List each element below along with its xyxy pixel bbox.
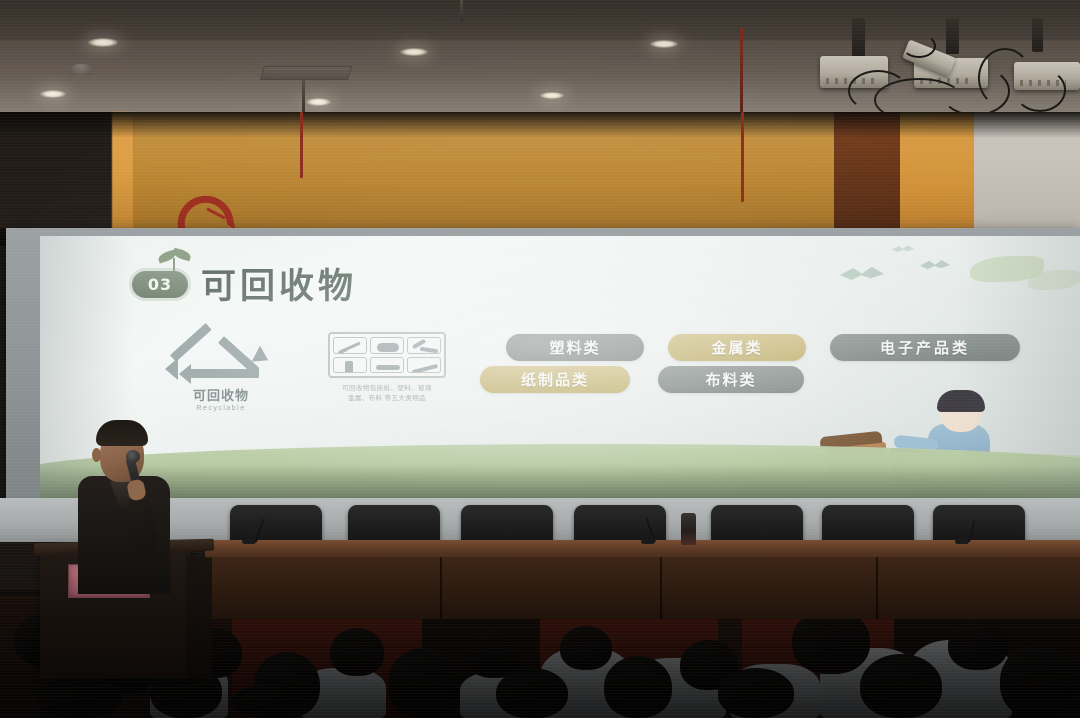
recessed-downlight [40, 90, 66, 98]
recessed-downlight [306, 98, 331, 106]
grid-cell-electronics-icon [407, 357, 441, 374]
rig-mount [852, 18, 865, 58]
recycle-arrow-head-bottom [179, 364, 191, 384]
audience-head [330, 628, 384, 676]
ceiling-rod [460, 0, 463, 22]
recessed-downlight [400, 48, 428, 56]
sprout-icon [158, 250, 192, 272]
stage-table-front [205, 557, 1080, 619]
audience-head [718, 668, 794, 718]
bird-decoration-icon [840, 264, 884, 284]
stage-table-seam [876, 557, 878, 619]
audience-head [388, 648, 458, 718]
recycle-label-cn: 可回收物 [158, 385, 284, 404]
recycle-label-en: Recyclable [158, 405, 284, 412]
ceiling-vent [260, 66, 352, 80]
category-pill-electronics: 电子产品类 [830, 334, 1020, 361]
rig-mount [1032, 18, 1043, 52]
mic-base [641, 539, 655, 544]
section-badge-wrap: 03 [132, 268, 188, 300]
recessed-downlight [88, 38, 118, 47]
section-number-badge: 03 [132, 271, 188, 298]
hanging-wire [300, 112, 303, 178]
wall-top-shadow [0, 112, 1080, 138]
grid-caption-line1: 可回收物包括纸、塑料、玻璃 [322, 384, 452, 394]
speaker-presenter [70, 420, 190, 600]
recycle-arm-top-left [170, 323, 212, 362]
slide-title: 可回收物 [201, 258, 357, 309]
rig-cable [902, 34, 936, 58]
speaker-ear [92, 448, 101, 462]
grid-cell-metal-icon [333, 357, 367, 374]
slide-heading: 03 可回收物 [132, 258, 357, 309]
ceiling [0, 0, 1080, 118]
audience-head [1000, 644, 1074, 718]
ceiling-rod [302, 78, 305, 112]
audience-head [604, 656, 672, 718]
category-pill-metal: 金属类 [668, 334, 806, 361]
category-pill-plastic: 塑料类 [506, 334, 644, 361]
projection-screen: 03 可回收物 可回收物 Recyclable [40, 236, 1080, 498]
rig-cable [1014, 68, 1066, 112]
grid-cell-glass-icon [407, 337, 441, 354]
bird-decoration-icon [920, 258, 950, 272]
leaf-decoration-icon [1028, 270, 1080, 290]
desk-microphone [960, 520, 976, 544]
recessed-downlight [540, 92, 564, 99]
figure-hair [937, 390, 985, 412]
bird-decoration-icon [892, 244, 914, 254]
recyclable-items-grid-block: 可回收物包括纸、塑料、玻璃 金属、布料 等五大类物品 [322, 332, 452, 405]
stage-table-seam [440, 557, 442, 619]
ceiling-rod [740, 28, 743, 112]
recycle-arrow-head-left [165, 358, 178, 380]
audience-head [232, 684, 312, 718]
recycle-symbol-block: 可回收物 Recyclable [158, 328, 284, 412]
auditorium-photo: 03 可回收物 可回收物 Recyclable [0, 0, 1080, 718]
category-pill-fabric: 布料类 [658, 366, 804, 393]
audience-head [36, 676, 122, 718]
stage-light-rig [818, 18, 1080, 118]
grid-cell-fabric-icon [370, 357, 404, 374]
mic-base [955, 539, 969, 544]
mic-base [242, 539, 256, 544]
thermos-bottle [681, 513, 696, 545]
hanging-wire [741, 112, 744, 202]
grid-caption-line2: 金属、布料 等五大类物品 [322, 394, 452, 404]
mic-stalk [255, 519, 264, 542]
audience-head [948, 620, 1008, 670]
sprout-stem [173, 258, 175, 272]
rig-mount [946, 18, 959, 54]
stage-table-seam [660, 557, 662, 619]
desk-microphone [646, 516, 662, 544]
microphone-head-icon [126, 450, 140, 463]
grid-cell-plastic-icon [370, 337, 404, 354]
speaker-hair [96, 420, 148, 446]
audience-head [496, 668, 568, 718]
screen-bottom-shadow [40, 464, 1080, 498]
desk-microphone [247, 518, 263, 544]
recycle-arm-bottom [185, 369, 259, 378]
recycle-triangle-icon [165, 328, 277, 380]
audience-head [560, 626, 612, 670]
recessed-downlight [650, 40, 678, 48]
ceiling-dome-fixture [70, 64, 92, 75]
grid-cell-paper-icon [333, 337, 367, 354]
category-pill-paper: 纸制品类 [480, 366, 630, 393]
mic-stalk [968, 520, 975, 542]
audience-head [860, 654, 942, 718]
recyclable-items-grid-icon [328, 332, 446, 378]
sprout-leaf-right [172, 247, 192, 261]
